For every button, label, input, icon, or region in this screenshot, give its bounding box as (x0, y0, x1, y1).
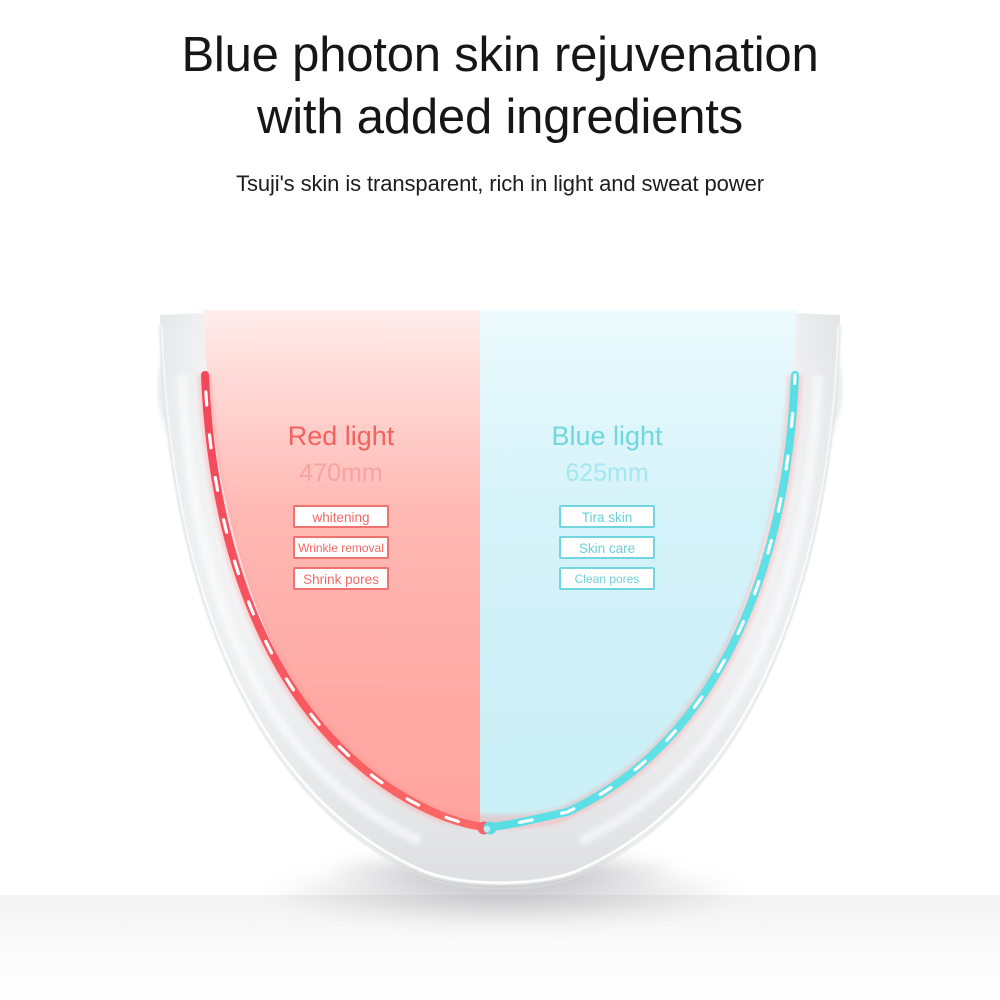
benefit-chip-tira-skin[interactable]: Tira skin (559, 505, 655, 528)
product-stage: Red light 470mm whitening Wrinkle remova… (0, 255, 1000, 1000)
body-outer-edge (160, 325, 840, 889)
red-light-wavelength: 470mm (231, 459, 451, 487)
benefit-chip-wrinkle-removal[interactable]: Wrinkle removal (293, 536, 389, 559)
benefit-chip-shrink-pores[interactable]: Shrink pores (293, 567, 389, 590)
blue-benefit-list: Tira skin Skin care Clean pores (497, 505, 717, 590)
body-bottom-shading (160, 313, 840, 886)
blue-light-wavelength: 625mm (497, 459, 717, 487)
device-illustration (0, 255, 1000, 1000)
headline-line-1: Blue photon skin rejuvenation (0, 24, 1000, 86)
blue-light-title: Blue light (497, 420, 717, 452)
headline-line-2: with added ingredients (0, 86, 1000, 148)
header-block: Blue photon skin rejuvenation with added… (0, 0, 1000, 198)
red-light-title: Red light (231, 420, 451, 452)
led-center-node-highlight (484, 826, 490, 832)
body-outer-highlight (161, 325, 839, 883)
benefit-chip-clean-pores[interactable]: Clean pores (559, 567, 655, 590)
benefit-chip-whitening[interactable]: whitening (293, 505, 389, 528)
page-title: Blue photon skin rejuvenation with added… (0, 24, 1000, 148)
device-body (160, 313, 840, 886)
red-benefit-list: whitening Wrinkle removal Shrink pores (231, 505, 451, 590)
benefit-chip-skin-care[interactable]: Skin care (559, 536, 655, 559)
red-light-panel: Red light 470mm whitening Wrinkle remova… (231, 420, 451, 590)
subtitle: Tsuji's skin is transparent, rich in lig… (0, 170, 1000, 198)
blue-light-panel: Blue light 625mm Tira skin Skin care Cle… (497, 420, 717, 590)
